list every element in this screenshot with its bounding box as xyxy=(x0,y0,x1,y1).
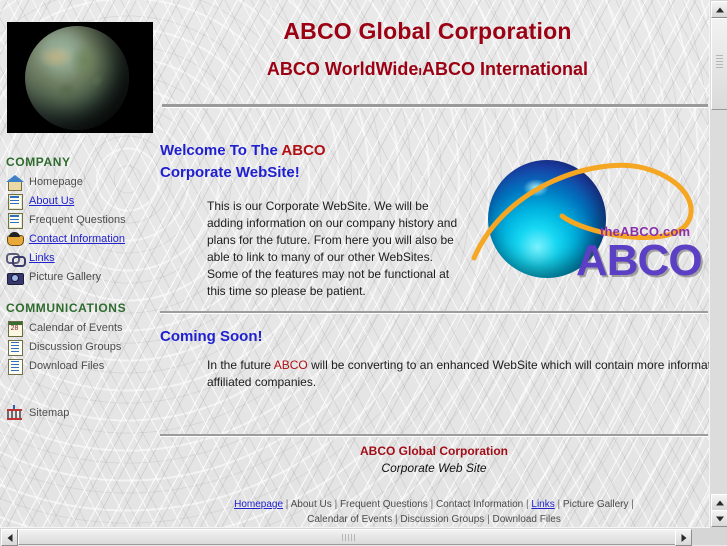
footer-link-calendar-of-events[interactable]: Calendar of Events xyxy=(307,514,392,525)
coming-soon-heading: Coming Soon! xyxy=(160,328,708,345)
vertical-scrollbar-thumb[interactable] xyxy=(711,18,727,110)
footer-link-about-us[interactable]: About Us xyxy=(291,499,332,510)
footer-link-frequent-questions[interactable]: Frequent Questions xyxy=(340,499,428,510)
sidebar-item-homepage[interactable]: Homepage xyxy=(6,173,154,191)
sidebar-item-links[interactable]: Links xyxy=(6,249,154,267)
sidebar-item-label[interactable]: Contact Information xyxy=(29,233,125,245)
earth-globe-image xyxy=(7,22,153,133)
intro-paragraph: This is our Corporate WebSite. We will b… xyxy=(207,198,462,300)
document-icon xyxy=(6,193,24,209)
sidebar-section-communications-heading: COMMUNICATIONS xyxy=(6,301,154,315)
camera-icon xyxy=(6,269,24,285)
sidebar-item-about-us[interactable]: About Us xyxy=(6,192,154,210)
coming-soon-section: Coming Soon! In the future ABCO will be … xyxy=(160,328,708,391)
footer-divider xyxy=(160,434,708,436)
sidebar-item-label[interactable]: About Us xyxy=(29,195,74,207)
footer-link-discussion-groups[interactable]: Discussion Groups xyxy=(400,514,484,525)
footer-separator: | xyxy=(335,499,338,510)
sidebar-item-label: Discussion Groups xyxy=(29,341,121,353)
subtitle-left: ABCO WorldWide xyxy=(267,59,419,79)
scroll-right-button[interactable] xyxy=(675,529,692,546)
footer-link-picture-gallery[interactable]: Picture Gallery xyxy=(563,499,629,510)
sidebar-item-calendar-of-events[interactable]: Calendar of Events xyxy=(6,319,154,337)
sidebar-nav: COMPANY Homepage About Us Frequent Quest… xyxy=(6,155,154,423)
sidebar-item-contact-information[interactable]: Contact Information xyxy=(6,230,154,248)
footer-separator: | xyxy=(395,514,398,525)
sidebar-section-company-heading: COMPANY xyxy=(6,155,154,169)
coming-soon-pre: In the future xyxy=(207,358,274,372)
document-icon xyxy=(6,212,24,228)
footer-link-homepage[interactable]: Homepage xyxy=(234,499,283,510)
sidebar-item-label: Download Files xyxy=(29,360,104,372)
vertical-scrollbar[interactable] xyxy=(709,0,727,528)
welcome-line2: Corporate WebSite! xyxy=(160,164,300,181)
footer-company-name: ABCO Global Corporation xyxy=(160,444,708,458)
footer-tagline: Corporate Web Site xyxy=(160,461,708,475)
web-page-canvas: ABCO Global Corporation ABCO WorldWideıA… xyxy=(0,0,710,528)
footer: ABCO Global Corporation Corporate Web Si… xyxy=(160,444,708,527)
masthead-divider xyxy=(162,104,708,107)
sidebar-item-picture-gallery[interactable]: Picture Gallery xyxy=(6,268,154,286)
welcome-brand: ABCO xyxy=(281,142,325,159)
coming-soon-brand: ABCO xyxy=(274,358,308,372)
sidebar-item-label[interactable]: Links xyxy=(29,252,55,264)
sidebar-item-label: Frequent Questions xyxy=(29,214,126,226)
sidebar-item-label: Homepage xyxy=(29,176,83,188)
footer-separator: | xyxy=(431,499,434,510)
scrollbar-grip xyxy=(342,534,356,541)
sidebar-item-label: Calendar of Events xyxy=(29,322,123,334)
page-subtitle: ABCO WorldWideıABCO International xyxy=(165,59,690,80)
abco-logo: theABCO.com ABCO xyxy=(466,150,710,295)
scroll-up-button[interactable] xyxy=(711,1,727,18)
house-icon xyxy=(6,174,24,190)
scroll-up-button-bottom[interactable] xyxy=(711,494,727,511)
logo-wordmark: ABCO xyxy=(576,236,702,286)
masthead: ABCO Global Corporation ABCO WorldWideıA… xyxy=(165,18,690,80)
footer-link-links[interactable]: Links xyxy=(531,499,554,510)
scrollbar-corner xyxy=(710,528,727,545)
scrollbar-grip xyxy=(716,55,723,69)
footer-separator: | xyxy=(286,499,289,510)
footer-separator: | xyxy=(631,499,634,510)
footer-link-download-files[interactable]: Download Files xyxy=(492,514,560,525)
subtitle-right: ABCO International xyxy=(422,59,588,79)
footer-link-contact-information[interactable]: Contact Information xyxy=(436,499,523,510)
telephone-icon xyxy=(6,231,24,247)
horizontal-scrollbar-thumb[interactable] xyxy=(18,529,680,545)
footer-separator: | xyxy=(558,499,561,510)
sidebar-item-label: Picture Gallery xyxy=(29,271,101,283)
footer-separator: | xyxy=(526,499,529,510)
globe-sphere xyxy=(25,26,129,130)
coming-soon-paragraph: In the future ABCO will be converting to… xyxy=(207,357,710,391)
sidebar-spacer xyxy=(6,287,154,301)
welcome-text: Welcome To The xyxy=(160,142,281,159)
sidebar-spacer xyxy=(6,376,154,404)
footer-links: Homepage | About Us | Frequent Questions… xyxy=(160,497,708,527)
content-divider-top xyxy=(160,311,708,313)
sidebar-item-sitemap[interactable]: Sitemap xyxy=(6,404,154,422)
horizontal-scrollbar[interactable] xyxy=(0,527,710,545)
page-title: ABCO Global Corporation xyxy=(165,18,690,45)
list-icon xyxy=(6,339,24,355)
sidebar-item-download-files[interactable]: Download Files xyxy=(6,357,154,375)
footer-separator: | xyxy=(487,514,490,525)
sitemap-icon xyxy=(6,405,24,421)
list-icon xyxy=(6,358,24,374)
sidebar-item-frequent-questions[interactable]: Frequent Questions xyxy=(6,211,154,229)
sidebar-item-label: Sitemap xyxy=(29,407,69,419)
sidebar-item-discussion-groups[interactable]: Discussion Groups xyxy=(6,338,154,356)
calendar-icon xyxy=(6,320,24,336)
scroll-down-button[interactable] xyxy=(711,510,727,527)
chain-links-icon xyxy=(6,250,24,266)
scroll-left-button[interactable] xyxy=(1,529,18,546)
